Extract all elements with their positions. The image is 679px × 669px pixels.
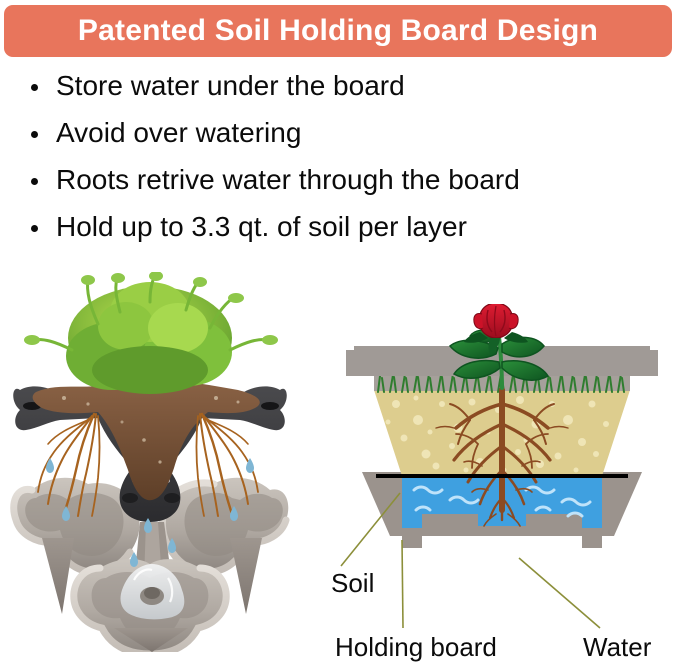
list-item: Hold up to 3.3 qt. of soil per layer bbox=[26, 213, 666, 241]
list-item-label: Hold up to 3.3 qt. of soil per layer bbox=[56, 211, 467, 242]
list-item-label: Roots retrive water through the board bbox=[56, 164, 520, 195]
list-item: Store water under the board bbox=[26, 72, 666, 100]
page-title: Patented Soil Holding Board Design bbox=[78, 16, 598, 46]
planter-cone-right bbox=[230, 538, 262, 614]
planter-cross-section-diagram bbox=[330, 304, 674, 594]
callout-holding-board: Holding board bbox=[335, 634, 497, 660]
callout-soil: Soil bbox=[331, 570, 374, 596]
callout-water: Water bbox=[583, 634, 651, 660]
illustration-area bbox=[0, 264, 679, 669]
stackable-planter-product-photo bbox=[2, 272, 342, 652]
list-item-label: Avoid over watering bbox=[56, 117, 301, 148]
list-item-label: Store water under the board bbox=[56, 70, 405, 101]
green-foliage-plant bbox=[24, 272, 278, 394]
planter-cone-left bbox=[42, 538, 74, 614]
list-item: Roots retrive water through the board bbox=[26, 166, 666, 194]
bullet-icon bbox=[31, 225, 38, 232]
bullet-icon bbox=[31, 131, 38, 138]
feature-list: Store water under the board Avoid over w… bbox=[26, 72, 666, 260]
bullet-icon bbox=[31, 178, 38, 185]
header-banner: Patented Soil Holding Board Design bbox=[4, 5, 672, 57]
bullet-icon bbox=[31, 84, 38, 91]
list-item: Avoid over watering bbox=[26, 119, 666, 147]
